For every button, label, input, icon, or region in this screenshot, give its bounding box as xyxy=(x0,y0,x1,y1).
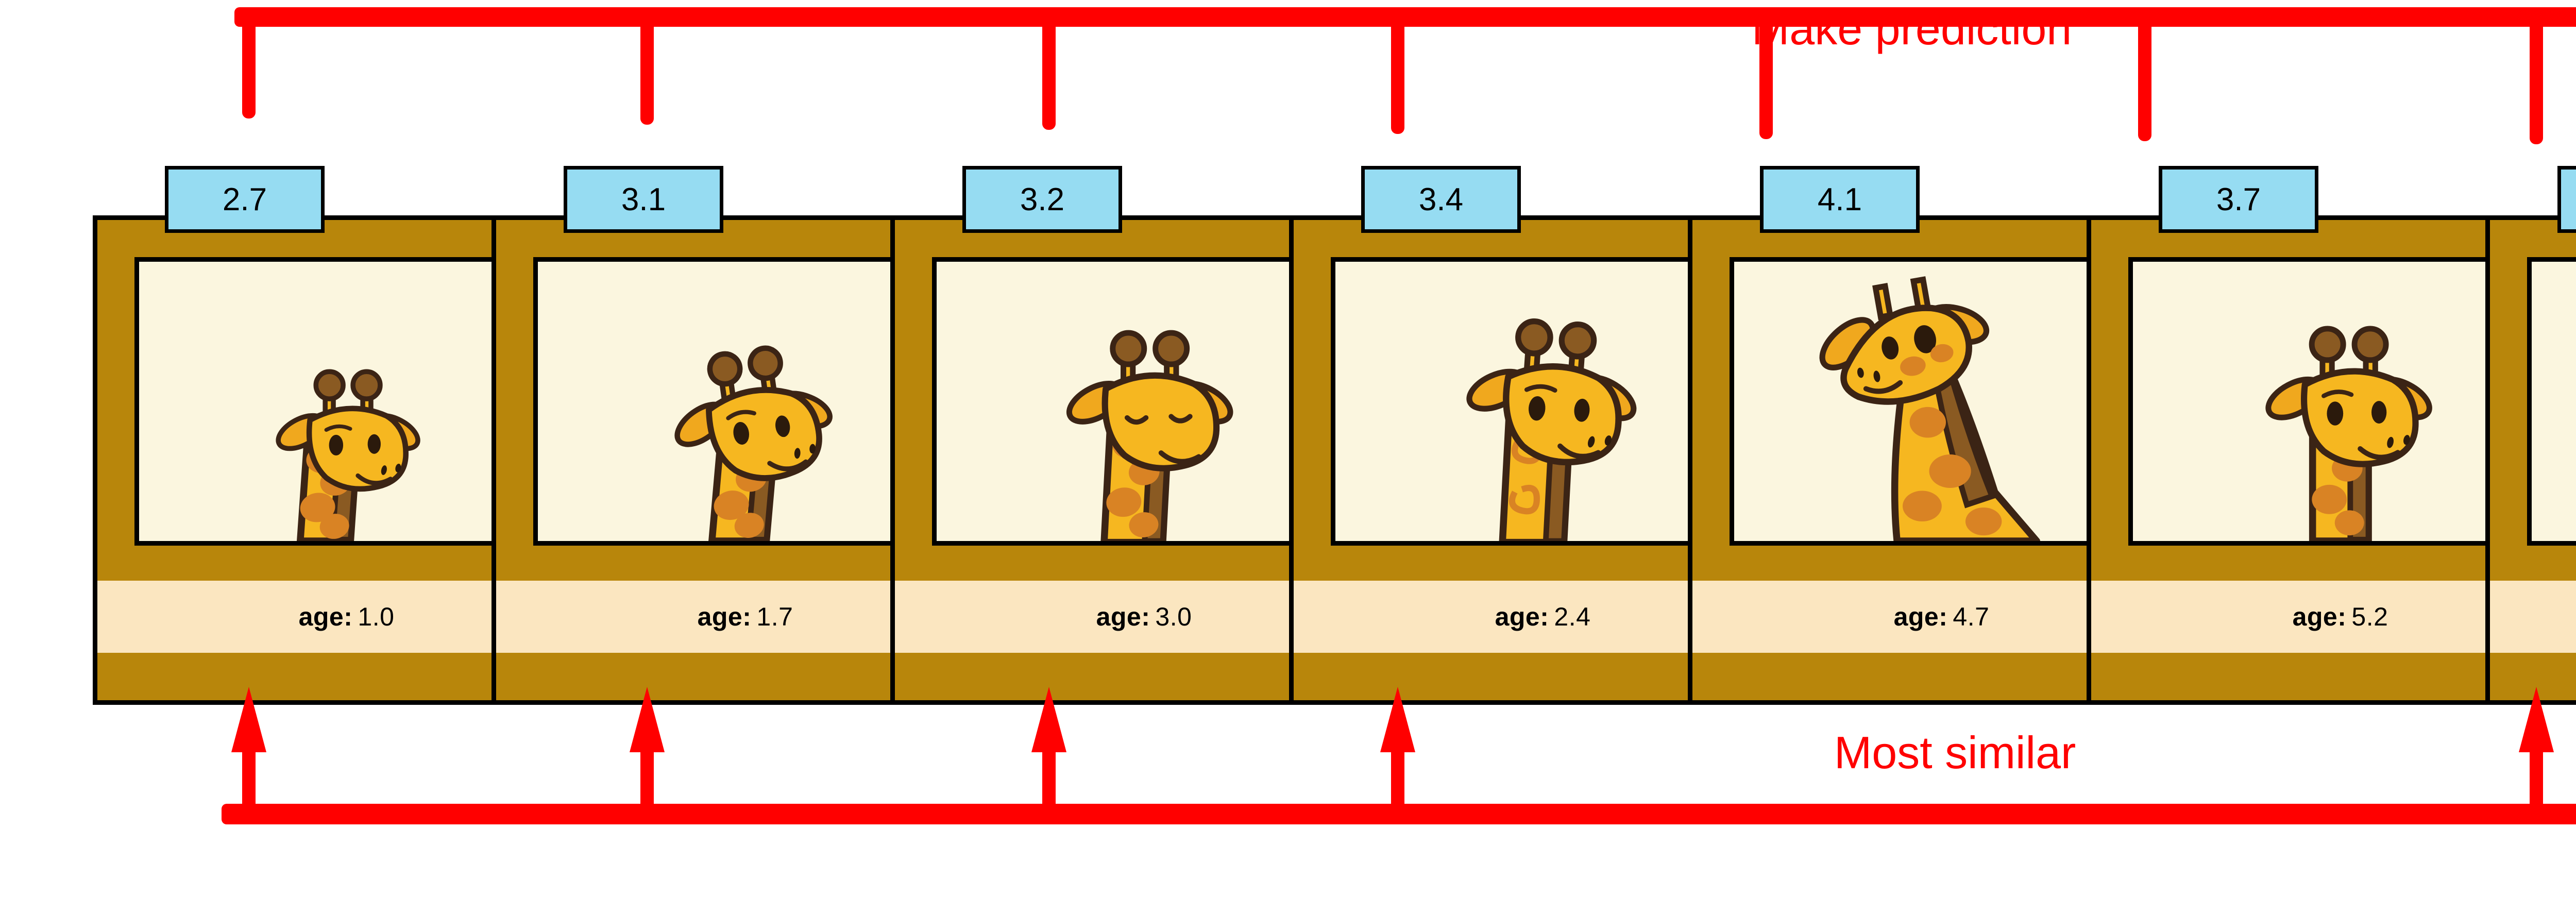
age-key: age: xyxy=(1096,602,1150,632)
similarity-badge: 3.6 xyxy=(2557,166,2576,233)
most-similar-arrows xyxy=(231,687,2554,814)
age-value: 3.0 xyxy=(1155,602,1192,632)
similarity-badge: 2.7 xyxy=(165,166,325,233)
age-value: 2.4 xyxy=(1554,602,1590,632)
similarity-badge: 3.7 xyxy=(2159,166,2318,233)
age-value: 4.7 xyxy=(1953,602,1989,632)
age-key: age: xyxy=(1894,602,1948,632)
age-value: 1.0 xyxy=(358,602,394,632)
giraffe-photo xyxy=(2527,257,2576,546)
make-prediction-label: Make prediction xyxy=(1752,3,2072,55)
similarity-badge: 3.1 xyxy=(564,166,723,233)
make-prediction-stems xyxy=(242,15,2543,144)
neighbor-card: age:4.5 xyxy=(2485,215,2576,705)
age-key: age: xyxy=(1495,602,1549,632)
age-label: age:4.5 xyxy=(2490,581,2576,653)
most-similar-bar xyxy=(222,804,2576,824)
age-key: age: xyxy=(299,602,353,632)
age-value: 1.7 xyxy=(756,602,793,632)
age-key: age: xyxy=(2293,602,2347,632)
age-value: 5.2 xyxy=(2351,602,2388,632)
similarity-badge: 3.2 xyxy=(962,166,1122,233)
knn-prediction-diagram: age:1.02.7 xyxy=(0,0,2576,913)
similarity-badge: 4.1 xyxy=(1760,166,1920,233)
similarity-badge: 3.4 xyxy=(1361,166,1521,233)
most-similar-label: Most similar xyxy=(1834,726,2076,779)
make-prediction-bar xyxy=(234,7,2576,27)
age-key: age: xyxy=(698,602,752,632)
